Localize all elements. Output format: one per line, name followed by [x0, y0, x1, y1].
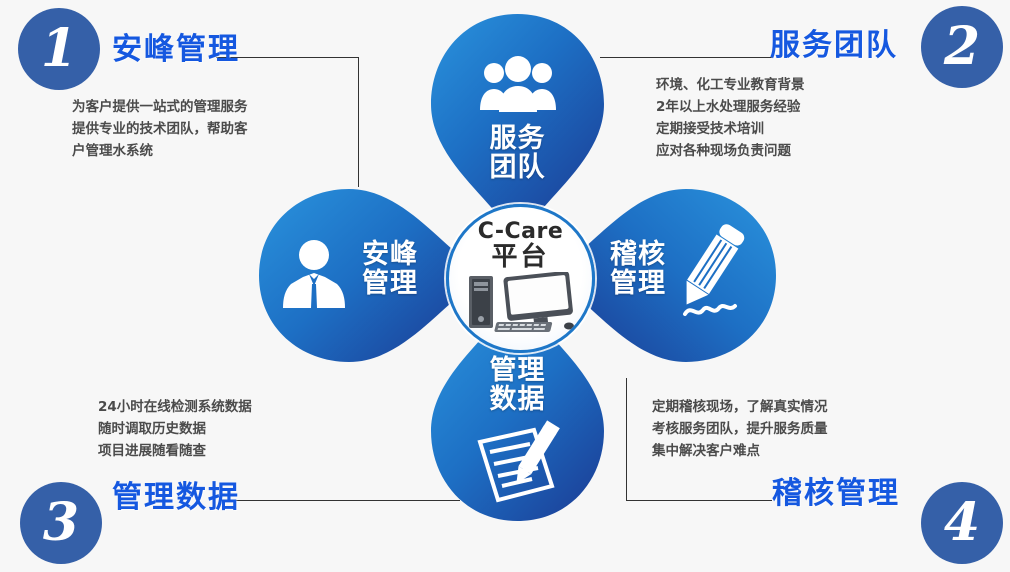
petal-diagram: 服务 团队 管理 数据: [255, 8, 780, 528]
section-1-line-2: 提供专业的技术团队，帮助客: [72, 118, 248, 140]
section-title-2: 服务团队: [770, 20, 898, 64]
petal-bottom-label: 管理 数据: [430, 356, 605, 414]
section-title-3: 管理数据: [112, 472, 240, 516]
hub-subtitle: 平台: [491, 244, 549, 270]
section-3-line-1: 24小时在线检测系统数据: [98, 396, 252, 418]
number-badge-2-label: 2: [944, 21, 980, 73]
petal-left-label: 安峰 管理: [345, 240, 435, 298]
number-badge-3-label: 3: [43, 497, 79, 549]
hub-title: C-Care: [478, 220, 564, 243]
pencil-signature-icon: [675, 218, 755, 324]
section-body-3: 24小时在线检测系统数据 随时调取历史数据 项目进展随看随查: [98, 396, 252, 462]
people-group-icon: [478, 56, 558, 114]
petal-audit-management[interactable]: 稽核 管理: [563, 188, 778, 363]
section-body-1: 为客户提供一站式的管理服务 提供专业的技术团队，帮助客 户管理水系统: [72, 96, 248, 162]
number-badge-1-label: 1: [41, 23, 77, 75]
infographic-canvas: 1 2 3 4 安峰管理 服务团队 管理数据 稽核管理 为客户提供一站式的管理服…: [0, 0, 1010, 572]
clipboard-pencil-icon: [472, 420, 564, 508]
number-badge-3: 3: [20, 482, 102, 564]
petal-top-label: 服务 团队: [430, 124, 605, 182]
businessperson-icon: [281, 236, 347, 310]
section-1-line-1: 为客户提供一站式的管理服务: [72, 96, 248, 118]
number-badge-4-label: 4: [944, 497, 980, 549]
center-hub[interactable]: C-Care 平台: [446, 204, 595, 353]
section-3-line-3: 项目进展随看随查: [98, 440, 252, 462]
desktop-computer-icon: [467, 272, 575, 338]
number-badge-1: 1: [18, 8, 100, 90]
section-3-line-2: 随时调取历史数据: [98, 418, 252, 440]
section-title-4: 稽核管理: [772, 468, 900, 512]
petal-right-label: 稽核 管理: [593, 240, 683, 298]
number-badge-2: 2: [921, 6, 1003, 88]
number-badge-4: 4: [921, 482, 1003, 564]
section-title-1: 安峰管理: [112, 24, 240, 68]
section-1-line-3: 户管理水系统: [72, 140, 248, 162]
petal-anfeng-management[interactable]: 安峰 管理: [257, 188, 472, 363]
